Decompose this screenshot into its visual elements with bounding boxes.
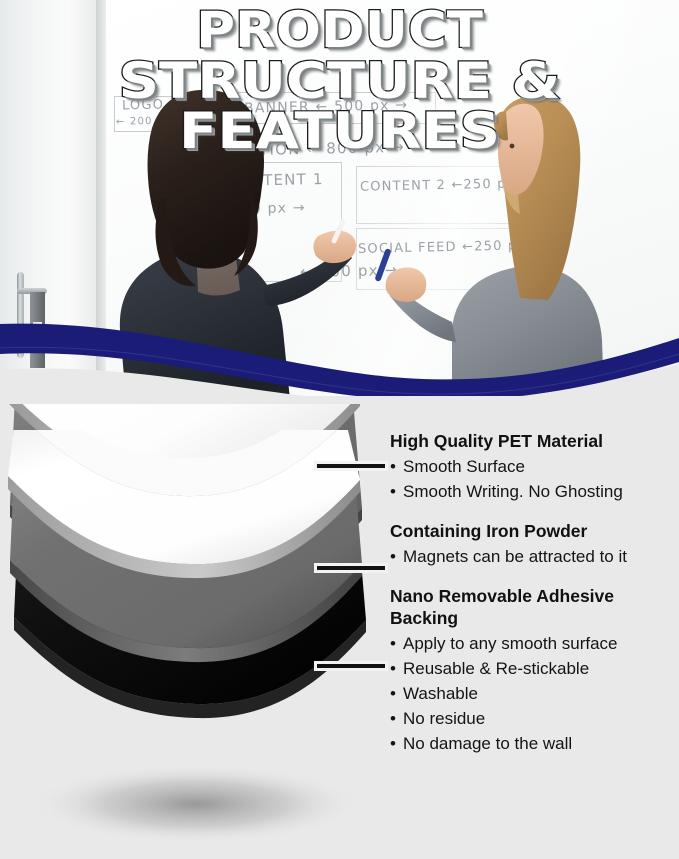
- feature-heading: Nano Removable Adhesive Backing: [390, 585, 676, 629]
- feature-bullet: No damage to the wall: [390, 731, 676, 756]
- page-title-line1: PRODUCT: [0, 5, 679, 55]
- feature-bullet: Smooth Surface: [390, 454, 676, 479]
- feature-bullet: Apply to any smooth surface: [390, 631, 676, 656]
- feature-block-iron: Containing Iron Powder Magnets can be at…: [390, 520, 676, 569]
- product-infographic: LOGO ← 200 px → BANNER ← 500 px → NAVIGA…: [0, 0, 679, 859]
- leader-line-adhesive: [317, 664, 385, 668]
- feature-block-adhesive: Nano Removable Adhesive Backing Apply to…: [390, 585, 676, 756]
- page-title-line2: STRUCTURE & FEATURES: [0, 56, 679, 156]
- leader-line-pet: [317, 464, 385, 468]
- layer-stack-upper: [0, 430, 400, 690]
- feature-bullets: Magnets can be attracted to it: [390, 544, 676, 569]
- feature-bullet: Smooth Writing. No Ghosting: [390, 479, 676, 504]
- feature-bullet: No residue: [390, 706, 676, 731]
- feature-bullets: Apply to any smooth surface Reusable & R…: [390, 631, 676, 756]
- feature-block-pet: High Quality PET Material Smooth Surface…: [390, 430, 676, 504]
- feature-heading: High Quality PET Material: [390, 430, 676, 452]
- feature-list-container: High Quality PET Material Smooth Surface…: [390, 430, 676, 772]
- feature-heading: Containing Iron Powder: [390, 520, 676, 542]
- feature-bullets: Smooth Surface Smooth Writing. No Ghosti…: [390, 454, 676, 504]
- leader-line-iron: [317, 566, 385, 570]
- feature-bullet: Reusable & Re-stickable: [390, 656, 676, 681]
- feature-bullet: Washable: [390, 681, 676, 706]
- feature-bullet: Magnets can be attracted to it: [390, 544, 676, 569]
- drop-shadow: [31, 764, 361, 844]
